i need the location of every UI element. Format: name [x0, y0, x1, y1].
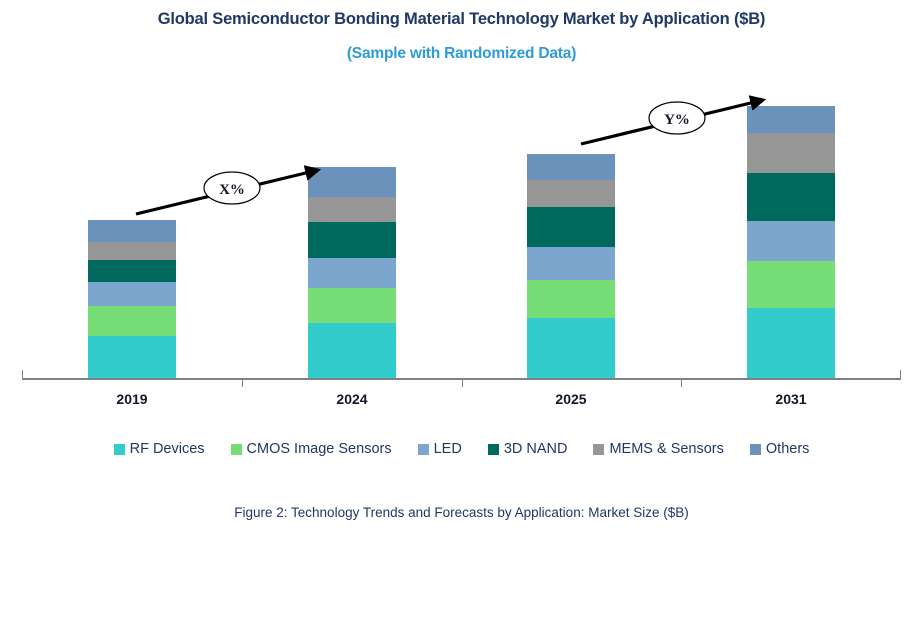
x-axis-tick [242, 378, 243, 387]
x-axis-cap-right [900, 370, 901, 380]
bar-segment-led[interactable] [747, 221, 835, 261]
page-title: Global Semiconductor Bonding Material Te… [0, 10, 923, 29]
legend-swatch-icon-led [418, 444, 429, 455]
legend-item-mems-sensors[interactable]: MEMS & Sensors [593, 441, 723, 457]
bar-segment-led[interactable] [88, 282, 176, 306]
bar-stack [88, 220, 176, 378]
x-axis-label-2031: 2031 [721, 391, 861, 407]
x-axis-cap-left [22, 370, 23, 380]
figure-caption: Figure 2: Technology Trends and Forecast… [0, 505, 923, 520]
bar-segment-3d-nand[interactable] [747, 173, 835, 221]
legend-swatch-icon-rf-devices [114, 444, 125, 455]
bar-segment-mems-sensors[interactable] [527, 180, 615, 207]
figure-root: Global Semiconductor Bonding Material Te… [0, 0, 923, 641]
growth-callout-label-x: X% [219, 182, 245, 198]
x-axis-tick [681, 378, 682, 387]
chart-legend: RF DevicesCMOS Image SensorsLED3D NANDME… [0, 441, 923, 457]
bar-segment-rf-devices[interactable] [308, 323, 396, 378]
legend-item-cmos-image-sensors[interactable]: CMOS Image Sensors [231, 441, 392, 457]
bar-column-2019[interactable] [88, 220, 176, 378]
bar-column-2025[interactable] [527, 154, 615, 378]
legend-label: RF Devices [130, 441, 205, 457]
x-axis-label-2024: 2024 [282, 391, 422, 407]
legend-swatch-icon-3d-nand [488, 444, 499, 455]
x-axis-label-2025: 2025 [501, 391, 641, 407]
chart-subtitle: (Sample with Randomized Data) [0, 45, 923, 63]
legend-label: LED [434, 441, 462, 457]
legend-label: CMOS Image Sensors [247, 441, 392, 457]
bar-segment-rf-devices[interactable] [88, 336, 176, 378]
bar-segment-cmos-image-sensors[interactable] [747, 261, 835, 308]
legend-swatch-icon-mems-sensors [593, 444, 604, 455]
bar-segment-cmos-image-sensors[interactable] [527, 280, 615, 318]
legend-label: 3D NAND [504, 441, 568, 457]
bar-segment-cmos-image-sensors[interactable] [88, 306, 176, 336]
legend-swatch-icon-others [750, 444, 761, 455]
legend-label: MEMS & Sensors [609, 441, 723, 457]
x-axis-tick [462, 378, 463, 387]
bar-stack [527, 154, 615, 378]
legend-item-led[interactable]: LED [418, 441, 462, 457]
bar-segment-cmos-image-sensors[interactable] [308, 288, 396, 323]
legend-item-others[interactable]: Others [750, 441, 810, 457]
growth-callout-x: X% [128, 158, 338, 228]
legend-swatch-icon-cmos-image-sensors [231, 444, 242, 455]
bar-segment-rf-devices[interactable] [747, 308, 835, 378]
growth-callout-y: Y% [573, 88, 783, 158]
bar-segment-3d-nand[interactable] [88, 260, 176, 282]
bar-segment-mems-sensors[interactable] [88, 242, 176, 260]
growth-callout-label-y: Y% [664, 112, 690, 128]
legend-item-rf-devices[interactable]: RF Devices [114, 441, 205, 457]
bar-segment-led[interactable] [308, 258, 396, 288]
legend-item-3d-nand[interactable]: 3D NAND [488, 441, 568, 457]
legend-label: Others [766, 441, 810, 457]
bar-segment-led[interactable] [527, 247, 615, 280]
bar-segment-3d-nand[interactable] [527, 207, 615, 247]
bar-segment-rf-devices[interactable] [527, 318, 615, 378]
x-axis-label-2019: 2019 [62, 391, 202, 407]
